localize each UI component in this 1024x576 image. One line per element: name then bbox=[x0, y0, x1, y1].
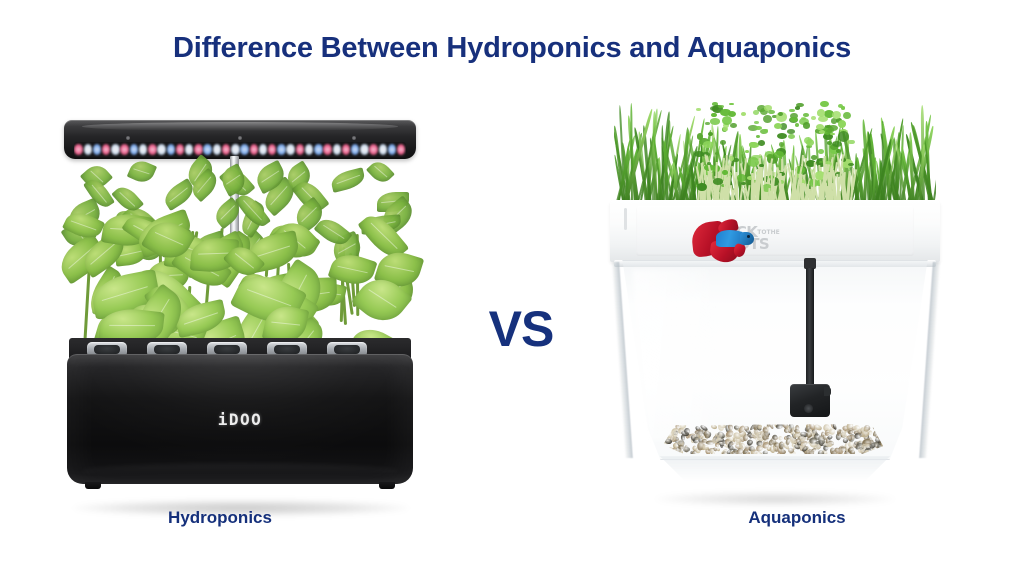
led-lamp bbox=[268, 144, 276, 155]
microgreen-leaf bbox=[819, 130, 825, 134]
led-lamp bbox=[351, 144, 359, 155]
led-lamp bbox=[259, 144, 267, 155]
gravel-pebble bbox=[702, 445, 708, 450]
betta-fish bbox=[690, 216, 756, 268]
led-lamp bbox=[379, 144, 387, 155]
led-lamp bbox=[74, 144, 82, 155]
microgreen-leaf bbox=[694, 151, 704, 157]
microgreen-leaf bbox=[730, 123, 737, 128]
gravel-pebble bbox=[715, 443, 719, 447]
wheatgrass-microgreens bbox=[614, 88, 936, 206]
microgreen-leaf bbox=[737, 174, 746, 182]
led-lamp bbox=[360, 144, 368, 155]
microgreen-leaf bbox=[843, 112, 851, 119]
microgreen-leaf bbox=[729, 103, 733, 106]
microgreen-leaf bbox=[788, 134, 795, 139]
led-lamp bbox=[333, 144, 341, 155]
hydroponics-device: iDOO bbox=[55, 110, 425, 510]
led-lamp bbox=[240, 144, 248, 155]
led-lamp bbox=[231, 144, 239, 155]
led-lamp bbox=[111, 144, 119, 155]
led-lamp bbox=[120, 144, 128, 155]
gravel-pebble bbox=[721, 451, 728, 454]
gravel-pebble bbox=[762, 450, 768, 454]
led-lamp bbox=[130, 144, 138, 155]
microgreen-leaf bbox=[713, 178, 724, 184]
tank-reflection bbox=[644, 456, 906, 482]
gravel-pebble bbox=[829, 428, 835, 435]
microgreen-leaf bbox=[779, 142, 784, 147]
led-lamp bbox=[222, 144, 230, 155]
microgreen-leaf bbox=[718, 105, 723, 108]
led-lamp bbox=[203, 144, 211, 155]
hydroponics-caption: Hydroponics bbox=[95, 508, 345, 528]
aquaponics-caption: Aquaponics bbox=[672, 508, 922, 528]
microgreen-leaf bbox=[710, 118, 721, 125]
microgreen-leaf bbox=[711, 113, 716, 118]
led-lamp bbox=[369, 144, 377, 155]
microgreen-leaf bbox=[838, 131, 849, 141]
led-lamp bbox=[102, 144, 110, 155]
led-lamp bbox=[185, 144, 193, 155]
led-lamp bbox=[277, 144, 285, 155]
led-lamp bbox=[342, 144, 350, 155]
basil-leaf bbox=[127, 157, 157, 185]
microgreen-leaf bbox=[818, 116, 829, 122]
gravel-pebble bbox=[777, 435, 783, 441]
tray-slot bbox=[624, 208, 627, 230]
microgreen-leaf bbox=[848, 140, 854, 145]
led-lamp bbox=[314, 144, 322, 155]
led-lamp bbox=[250, 144, 258, 155]
microgreen-leaf bbox=[811, 116, 816, 120]
microgreen-leaf bbox=[838, 120, 846, 128]
led-lamp bbox=[176, 144, 184, 155]
gravel-pebble bbox=[731, 450, 739, 454]
pump-tube bbox=[806, 268, 814, 390]
microgreen-leaf bbox=[848, 163, 854, 167]
led-lamp bbox=[194, 144, 202, 155]
microgreen-leaf bbox=[733, 158, 738, 162]
led-lamp bbox=[397, 144, 405, 155]
comparison-infographic: Difference Between Hydroponics and Aquap… bbox=[0, 0, 1024, 576]
microgreen-leaf bbox=[756, 135, 760, 138]
hood-screw-icon bbox=[238, 136, 242, 140]
gravel-pebble bbox=[848, 441, 854, 448]
tray-front-panel: BACKTOTHE ROOTS bbox=[636, 206, 914, 256]
device-foot bbox=[85, 482, 101, 489]
microgreen-leaf bbox=[787, 129, 795, 134]
fish-eye bbox=[747, 235, 750, 238]
gravel-pebble bbox=[749, 434, 752, 438]
microgreen-leaf bbox=[703, 141, 713, 147]
microgreen-leaf bbox=[811, 155, 817, 160]
led-lamp bbox=[139, 144, 147, 155]
led-lamp bbox=[286, 144, 294, 155]
aquaponics-device: BACKTOTHE ROOTS bbox=[600, 88, 950, 508]
led-lamp bbox=[213, 144, 221, 155]
microgreen-leaf bbox=[795, 123, 799, 127]
gravel-pebble bbox=[844, 451, 851, 454]
microgreen-leaf bbox=[803, 122, 810, 128]
microgreen-leaf bbox=[720, 140, 726, 146]
microgreen-leaf bbox=[764, 129, 768, 132]
idoo-brand-logo: iDOO bbox=[55, 410, 425, 429]
gravel-pebble bbox=[751, 450, 755, 454]
led-strip bbox=[74, 142, 406, 157]
microgreen-leaf bbox=[763, 115, 772, 123]
wheatgrass-blade bbox=[932, 129, 936, 206]
led-lamp bbox=[157, 144, 165, 155]
microgreen-leaf bbox=[818, 149, 824, 154]
led-lamp bbox=[323, 144, 331, 155]
microgreen-leaf bbox=[707, 162, 711, 165]
led-lamp bbox=[93, 144, 101, 155]
gravel-pebble bbox=[862, 443, 870, 448]
device-foot bbox=[379, 482, 395, 489]
gravel-pebble bbox=[849, 449, 856, 454]
led-lamp bbox=[305, 144, 313, 155]
planter-tray: BACKTOTHE ROOTS bbox=[610, 200, 940, 262]
page-title: Difference Between Hydroponics and Aquap… bbox=[0, 32, 1024, 65]
microgreen-leaf bbox=[820, 101, 829, 108]
gravel-pebble bbox=[718, 424, 724, 431]
microgreen-leaf bbox=[741, 112, 747, 116]
basil-leaf bbox=[366, 157, 395, 186]
microgreen-leaf bbox=[806, 139, 814, 146]
led-lamp bbox=[388, 144, 396, 155]
gravel-pebble bbox=[704, 434, 709, 438]
hood-screw-icon bbox=[126, 136, 130, 140]
device-shadow bbox=[655, 492, 895, 506]
microgreen-leaf bbox=[768, 110, 775, 114]
pump-outlet bbox=[824, 387, 831, 396]
led-lamp bbox=[296, 144, 304, 155]
versus-separator: VS bbox=[466, 300, 576, 358]
tank-glass-highlight bbox=[633, 270, 724, 440]
microgreen-leaf bbox=[696, 108, 701, 111]
gravel-bed bbox=[656, 424, 890, 454]
gravel-pebble bbox=[794, 425, 799, 431]
microgreen-leaf bbox=[729, 156, 734, 161]
led-grow-light-hood bbox=[64, 120, 416, 159]
microgreen-leaf bbox=[754, 121, 759, 124]
microgreen-leaf bbox=[803, 113, 809, 117]
microgreen-leaf bbox=[697, 133, 704, 139]
microgreen-leaf bbox=[720, 109, 730, 117]
fish-head bbox=[740, 232, 754, 245]
gravel-pebble bbox=[672, 432, 676, 441]
microgreen-leaf bbox=[722, 170, 727, 175]
microgreen-leaf bbox=[777, 133, 787, 139]
microgreen-leaf bbox=[832, 141, 842, 147]
microgreen-leaf bbox=[789, 109, 795, 113]
microgreen-leaf bbox=[755, 126, 762, 130]
microgreen-leaf bbox=[841, 106, 846, 109]
basil-leaf bbox=[329, 168, 367, 194]
microgreen-leaf bbox=[795, 106, 801, 110]
led-lamp bbox=[84, 144, 92, 155]
hood-screw-icon bbox=[352, 136, 356, 140]
led-lamp bbox=[167, 144, 175, 155]
led-lamp bbox=[148, 144, 156, 155]
microgreen-leaf bbox=[758, 140, 765, 146]
